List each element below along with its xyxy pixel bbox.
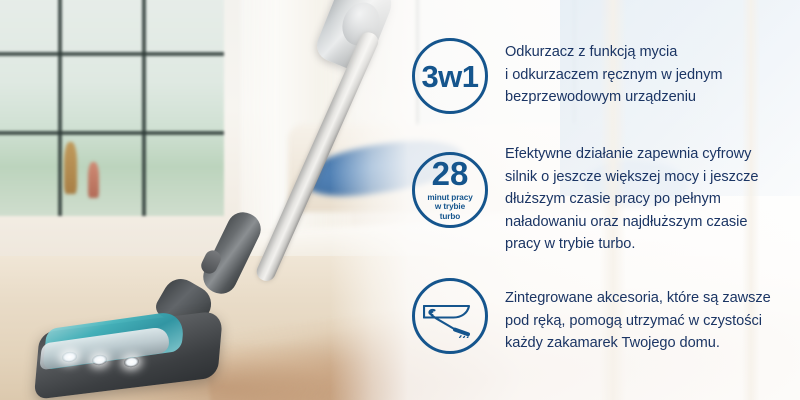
- feature-text-line: Efektywne działanie zapewnia cyfrowy: [505, 143, 797, 166]
- product-feature-banner: 3w1 Odkurzacz z funkcją mycia i odkurzac…: [0, 0, 800, 400]
- feature-text-line: naładowaniu oraz najdłuższym czasie: [505, 211, 797, 234]
- badge-sub-line: minut pracy: [427, 193, 472, 202]
- badge-sub-line: turbo: [440, 212, 460, 221]
- feature-text-line: silnik o jeszcze większej mocy i jeszcze: [505, 166, 797, 189]
- feature-text-line: Odkurzacz z funkcją mycia: [505, 41, 797, 64]
- feature-list: 3w1 Odkurzacz z funkcją mycia i odkurzac…: [0, 0, 800, 400]
- feature-text-2: Efektywne działanie zapewnia cyfrowy sil…: [505, 143, 797, 256]
- feature-text-line: dłuższym czasie pracy po pełnym: [505, 188, 797, 211]
- badge-main-label: 3w1: [421, 61, 478, 92]
- feature-text-line: bezprzewodowym urządzeniu: [505, 86, 797, 109]
- badge-sub-label: minut pracy w trybie turbo: [427, 193, 472, 221]
- crevice-nozzle-icon: [423, 294, 477, 338]
- feature-text-3: Zintegrowane akcesoria, które są zawsze …: [505, 287, 797, 355]
- feature-text-line: i odkurzaczem ręcznym w jednym: [505, 64, 797, 87]
- feature-text-1: Odkurzacz z funkcją mycia i odkurzaczem …: [505, 41, 797, 109]
- badge-main-label: 28: [432, 157, 469, 190]
- feature-badge-3w1: 3w1: [412, 38, 488, 114]
- badge-sub-line: w trybie: [435, 202, 465, 211]
- feature-text-line: Zintegrowane akcesoria, które są zawsze: [505, 287, 797, 310]
- feature-badge-28-minutes: 28 minut pracy w trybie turbo: [412, 152, 488, 228]
- feature-text-line: każdy zakamarek Twojego domu.: [505, 332, 797, 355]
- feature-badge-accessories: [412, 278, 488, 354]
- feature-text-line: pod ręką, pomogą utrzymać w czystości: [505, 310, 797, 333]
- feature-text-line: pracy w trybie turbo.: [505, 233, 797, 256]
